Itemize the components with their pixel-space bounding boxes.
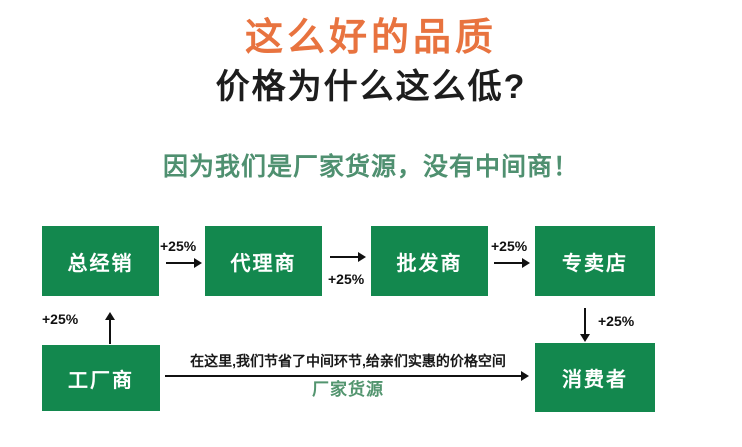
node-distributor-label: 总经销 bbox=[68, 247, 134, 276]
arrow-head bbox=[522, 258, 530, 268]
arrow-head bbox=[194, 258, 202, 268]
node-consumer-label: 消费者 bbox=[562, 363, 628, 392]
source-note: 厂家货源 bbox=[168, 379, 528, 401]
node-agent-label: 代理商 bbox=[231, 247, 297, 276]
arrow-up-icon-factory-to-distributor bbox=[105, 312, 115, 344]
node-factory: 工厂商 bbox=[42, 345, 160, 411]
node-agent: 代理商 bbox=[205, 226, 322, 296]
arrow-shaft bbox=[109, 318, 111, 344]
markup-label-agent-to-wholesaler: +25% bbox=[328, 271, 364, 287]
supply-chain-diagram: 总经销 代理商 批发商 专卖店 工厂商 消费者 +25% bbox=[0, 0, 742, 447]
node-wholesaler-label: 批发商 bbox=[397, 247, 463, 276]
arrow-right-icon-wholesaler-to-store bbox=[494, 258, 530, 268]
arrow-shaft bbox=[584, 308, 586, 334]
arrow-shaft bbox=[330, 256, 358, 258]
node-factory-label: 工厂商 bbox=[68, 364, 134, 393]
arrow-right-icon-distributor-to-agent bbox=[166, 258, 202, 268]
arrow-down-icon-store-to-consumer bbox=[580, 308, 590, 342]
savings-note: 在这里,我们节省了中间环节,给亲们实惠的价格空间 bbox=[168, 352, 528, 370]
markup-label-wholesaler-to-store: +25% bbox=[491, 238, 527, 254]
markup-label-distributor-to-agent: +25% bbox=[160, 238, 196, 254]
arrow-right-icon-agent-to-wholesaler bbox=[330, 252, 366, 262]
node-store-label: 专卖店 bbox=[562, 247, 628, 276]
arrow-head bbox=[358, 252, 366, 262]
node-wholesaler: 批发商 bbox=[371, 226, 488, 296]
node-distributor: 总经销 bbox=[42, 226, 159, 296]
arrow-head bbox=[580, 334, 590, 342]
arrow-shaft bbox=[494, 262, 522, 264]
node-consumer: 消费者 bbox=[535, 343, 655, 412]
markup-label-store-to-consumer: +25% bbox=[598, 313, 634, 329]
node-store: 专卖店 bbox=[535, 226, 655, 296]
markup-label-factory-to-distributor: +25% bbox=[42, 311, 78, 327]
arrow-shaft bbox=[165, 375, 522, 377]
arrow-shaft bbox=[166, 262, 194, 264]
